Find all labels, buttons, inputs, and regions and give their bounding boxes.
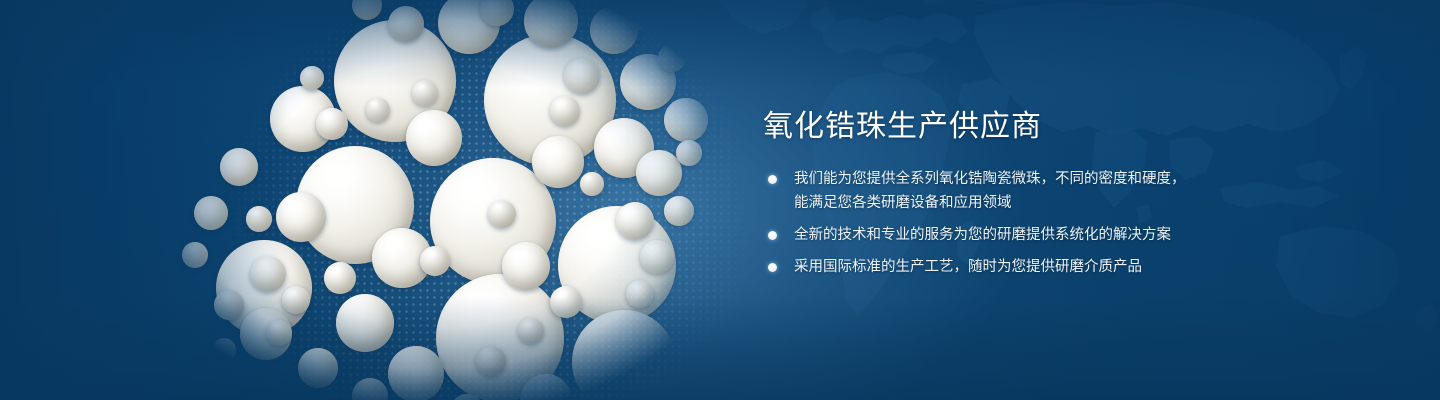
- bullet-dot-icon: [768, 263, 777, 272]
- bullet-dot-icon: [768, 175, 777, 184]
- list-item-text: 采用国际标准的生产工艺，随时为您提供研磨介质产品: [794, 256, 1283, 279]
- list-item: 采用国际标准的生产工艺，随时为您提供研磨介质产品: [763, 256, 1283, 279]
- list-item-text: 能满足您各类研磨设备和应用领域: [794, 192, 1283, 215]
- list-item-text: 全新的技术和专业的服务为您的研磨提供系统化的解决方案: [794, 224, 1283, 247]
- list-item: 我们能为您提供全系列氧化锆陶瓷微珠，不同的密度和硬度， 能满足您各类研磨设备和应…: [763, 168, 1283, 215]
- banner-copy: 氧化锆珠生产供应商 我们能为您提供全系列氧化锆陶瓷微珠，不同的密度和硬度， 能满…: [763, 108, 1283, 279]
- feature-list: 我们能为您提供全系列氧化锆陶瓷微珠，不同的密度和硬度， 能满足您各类研磨设备和应…: [763, 168, 1283, 279]
- list-item: 全新的技术和专业的服务为您的研磨提供系统化的解决方案: [763, 224, 1283, 247]
- bullet-dot-icon: [768, 231, 777, 240]
- hero-banner: 氧化锆珠生产供应商 我们能为您提供全系列氧化锆陶瓷微珠，不同的密度和硬度， 能满…: [0, 0, 1440, 400]
- list-item-text: 我们能为您提供全系列氧化锆陶瓷微珠，不同的密度和硬度，: [794, 168, 1283, 191]
- page-title: 氧化锆珠生产供应商: [763, 108, 1283, 146]
